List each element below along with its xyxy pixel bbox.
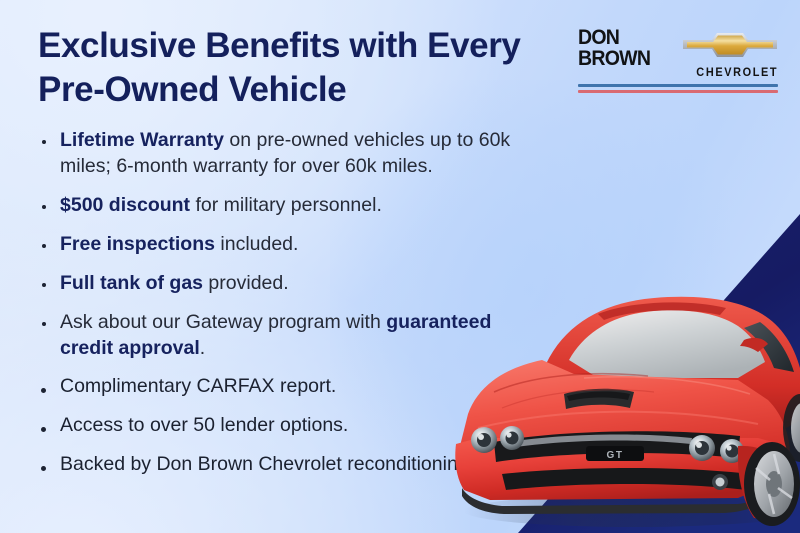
benefit-bold-lead: Free inspections (60, 233, 215, 255)
list-item: Lifetime Warranty on pre-owned vehicles … (38, 128, 518, 180)
bullet-dot-icon (42, 140, 46, 144)
bullet-dot-icon (42, 322, 46, 326)
benefit-text: Backed by Don Brown Chevrolet reconditio… (60, 453, 474, 475)
list-item: Access to over 50 lender options. (38, 413, 518, 439)
benefit-bold-lead: $500 discount (60, 194, 190, 216)
bullet-dot-icon (42, 244, 46, 248)
benefit-text-tail: . (200, 337, 205, 359)
chevrolet-bowtie-icon (682, 30, 778, 65)
promo-card: Exclusive Benefits with Every Pre-Owned … (0, 0, 800, 533)
benefit-text: provided. (203, 272, 289, 294)
logo-wordmark-line1: DON (578, 26, 619, 49)
benefit-text: Ask about our Gateway program with (60, 311, 386, 333)
bullet-dot-icon (41, 388, 46, 393)
benefit-bold-lead: Full tank of gas (60, 272, 203, 294)
bullet-dot-icon (42, 205, 46, 209)
list-item: $500 discount for military personnel. (38, 193, 518, 219)
bullet-dot-icon (41, 466, 46, 471)
logo-brand-text: CHEVROLET (696, 67, 778, 79)
list-item: Ask about our Gateway program with guara… (38, 310, 518, 362)
list-item: Complimentary CARFAX report. (38, 374, 518, 400)
logo-wordmark: DONBROWN (578, 28, 650, 69)
benefit-bold-lead: Lifetime Warranty (60, 129, 224, 151)
page-title: Exclusive Benefits with Every Pre-Owned … (38, 24, 538, 112)
list-item: Full tank of gas provided. (38, 271, 518, 297)
logo-wordmark-line2: BROWN (578, 47, 650, 70)
benefit-text: for military personnel. (190, 194, 382, 216)
list-item: Backed by Don Brown Chevrolet reconditio… (38, 452, 518, 478)
bullet-dot-icon (42, 283, 46, 287)
benefit-text: included. (215, 233, 298, 255)
logo-stripes (578, 84, 778, 93)
benefit-text: Complimentary CARFAX report. (60, 375, 336, 397)
list-item: Free inspections included. (38, 232, 518, 258)
logo-stripe-red (578, 90, 778, 93)
dealer-logo: DONBROWN (578, 28, 778, 93)
benefit-text: Access to over 50 lender options. (60, 414, 348, 436)
bullet-dot-icon (41, 427, 46, 432)
benefits-list: Lifetime Warranty on pre-owned vehicles … (38, 128, 518, 478)
